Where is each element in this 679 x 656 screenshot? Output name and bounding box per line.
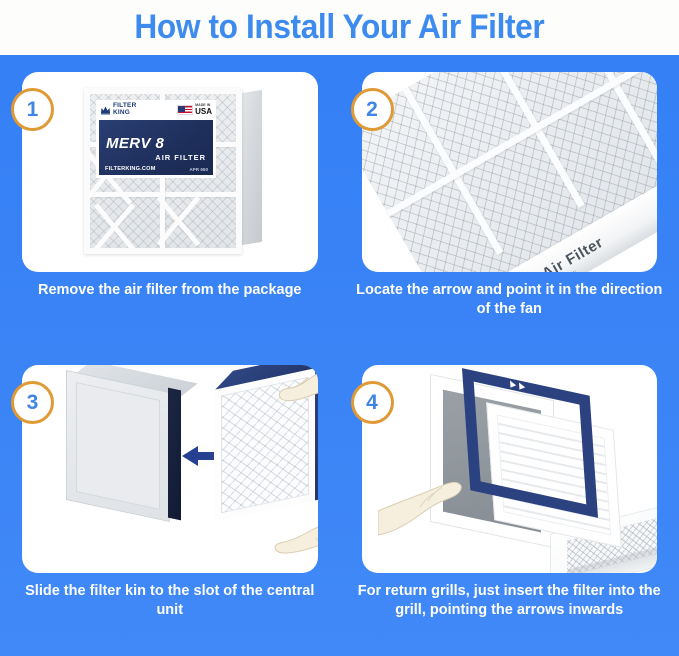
step-caption-3: Slide the filter kin to the slot of the … (16, 582, 324, 620)
filter-slot-opening (168, 388, 181, 521)
step-2-artwork: AIR Air Filter AIRFLOW (362, 72, 658, 272)
step-number-badge-4: 4 (351, 381, 394, 424)
step-number-badge-1: 1 (11, 88, 54, 131)
apr-rating-text: APR 650 (189, 167, 208, 172)
step-caption-4: For return grills, just insert the filte… (356, 582, 664, 620)
filter-king-logo: FILTER KING (100, 103, 136, 116)
label-top-row: FILTER KING MADE IN USA (96, 100, 216, 120)
hand-top-icon (268, 365, 318, 417)
label-bottom-row: FILTERKING.COM APR 650 (105, 166, 208, 172)
air-filter-product-image: FILTER KING MADE IN USA (84, 88, 262, 254)
step-3-image-card (22, 365, 318, 573)
filter-corner-photo: AIR Air Filter AIRFLOW (362, 72, 658, 272)
step-card-4: 4 For return grills, just insert the fil… (340, 348, 679, 656)
country-text: USA (195, 108, 212, 116)
page-title: How to Install Your Air Filter (135, 8, 545, 47)
brand-line-2: KING (113, 110, 136, 117)
step-card-3: 3 Slide the filter kin to the slot of th… (0, 348, 340, 656)
step-4-artwork (362, 365, 658, 573)
hand-inserting-icon (378, 461, 490, 541)
step-number-badge-2: 2 (351, 88, 394, 131)
page-header: How to Install Your Air Filter (0, 0, 679, 55)
crown-icon (100, 105, 111, 115)
filter-front-face: FILTER KING MADE IN USA (84, 88, 242, 254)
step-card-1: FILTER KING MADE IN USA (0, 55, 340, 348)
central-unit-body (66, 370, 170, 522)
usa-flag-icon (177, 105, 193, 115)
made-in-usa-badge: MADE IN USA (177, 104, 212, 116)
hand-bottom-icon (272, 513, 318, 569)
filter-product-label: FILTER KING MADE IN USA (96, 100, 216, 178)
label-navy-block: MERV 8 AIR FILTER FILTERKING.COM APR 650 (99, 120, 213, 175)
website-text: FILTERKING.COM (105, 166, 156, 172)
steps-stage: FILTER KING MADE IN USA (0, 55, 679, 656)
merv-rating-text: MERV 8 (106, 136, 206, 151)
brand-name: FILTER KING (113, 103, 136, 116)
step-3-artwork (22, 365, 318, 573)
made-in-usa-text: MADE IN USA (195, 104, 212, 116)
step-caption-2: Locate the arrow and point it in the dir… (356, 281, 664, 319)
steps-grid: FILTER KING MADE IN USA (0, 55, 679, 656)
step-1-image-card: FILTER KING MADE IN USA (22, 72, 318, 272)
step-number-badge-3: 3 (11, 381, 54, 424)
step-caption-1: Remove the air filter from the package (16, 281, 324, 300)
step-card-2: AIR Air Filter AIRFLOW 2 Locate the arro… (340, 55, 679, 348)
step-4-image-card (362, 365, 658, 573)
step-1-artwork: FILTER KING MADE IN USA (22, 72, 318, 272)
air-filter-subtitle: AIR FILTER (106, 153, 206, 162)
step-2-image-card: AIR Air Filter AIRFLOW (362, 72, 658, 272)
